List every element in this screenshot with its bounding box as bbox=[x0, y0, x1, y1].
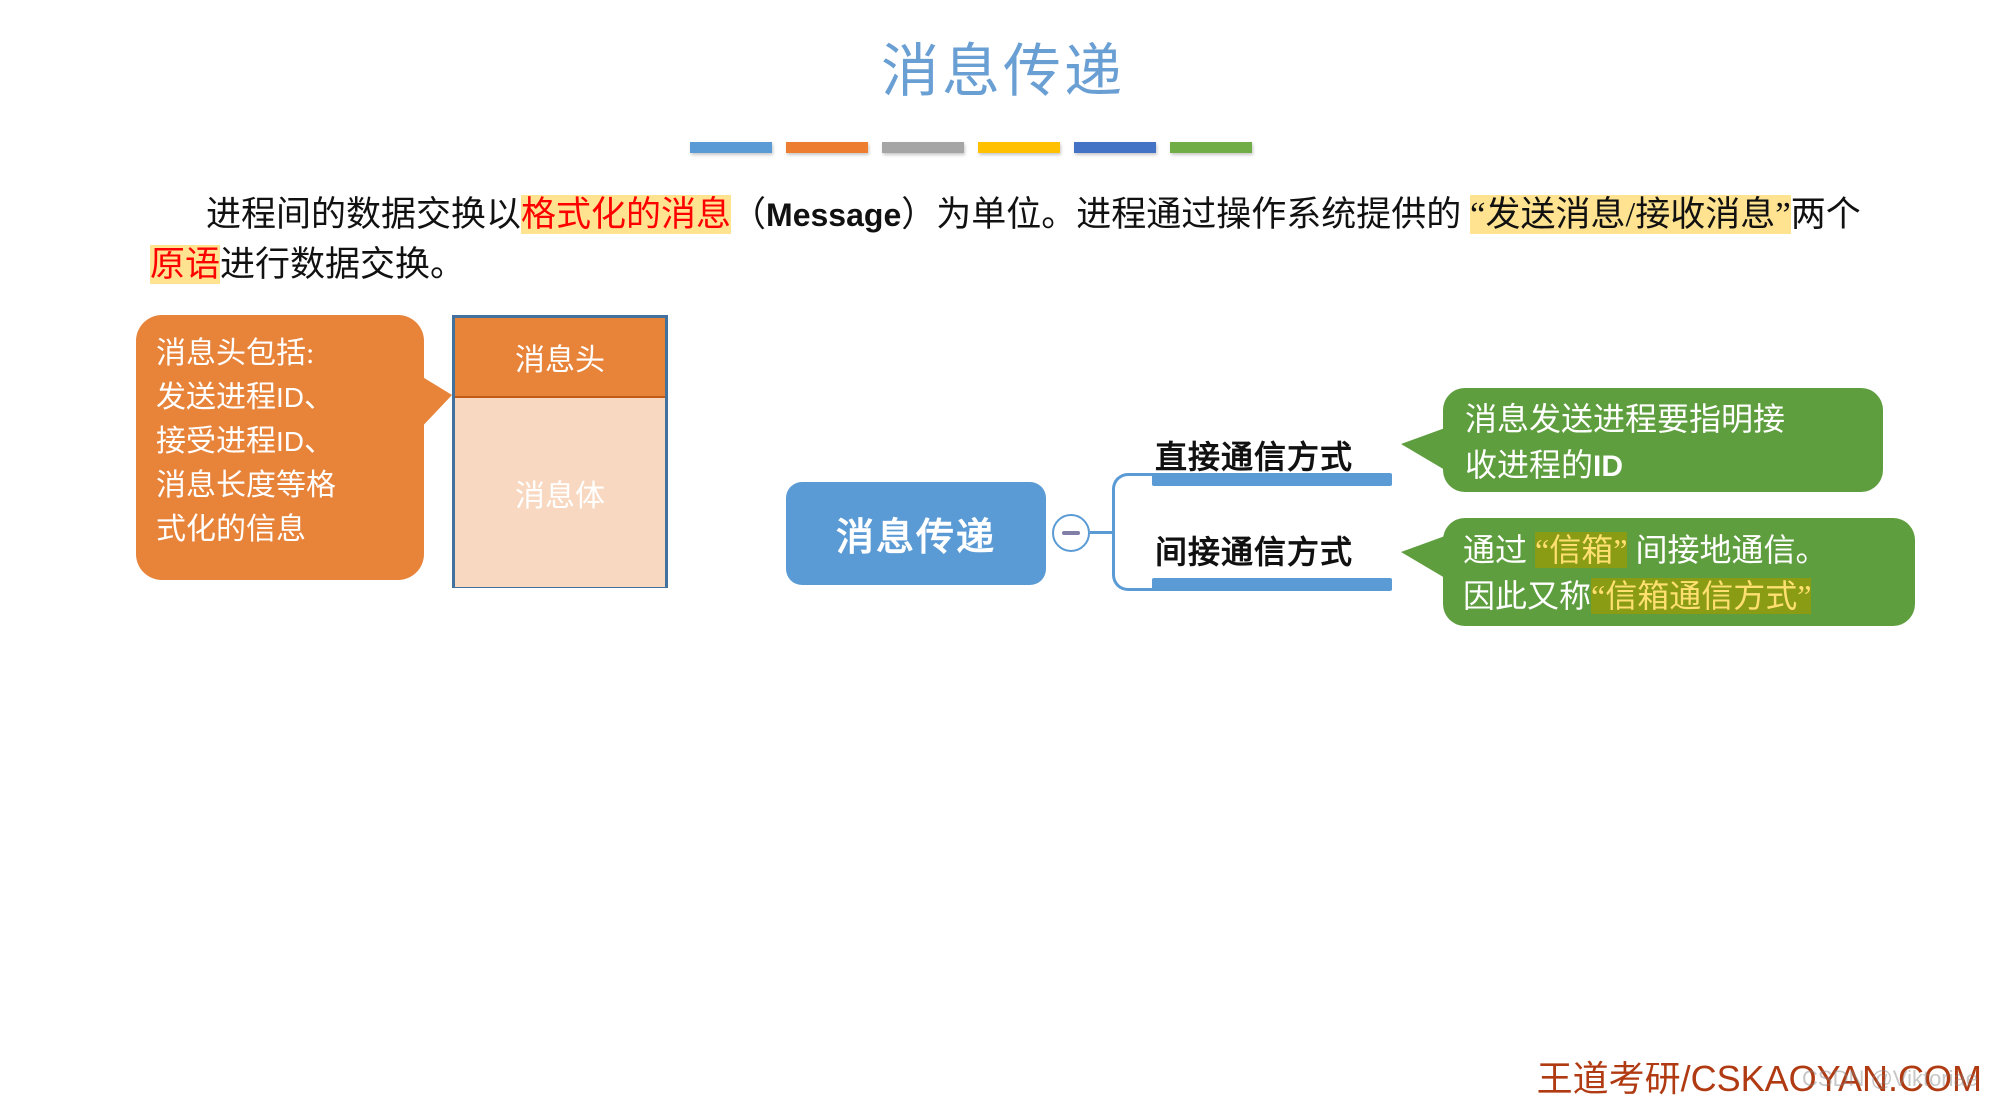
para-seg-7: 两个 bbox=[1791, 195, 1861, 234]
green1-line2-prefix: 收进程的 bbox=[1465, 447, 1593, 483]
line2-latin: ID bbox=[276, 382, 304, 413]
message-body-cell: 消息体 bbox=[455, 398, 665, 587]
green2-line1-highlight: “信箱” bbox=[1535, 532, 1627, 568]
accent-bar-strip bbox=[690, 142, 1252, 153]
accent-bar-dark-blue bbox=[1074, 142, 1156, 153]
line2-prefix: 发送进程 bbox=[156, 381, 276, 414]
green1-line-2: 收进程的ID bbox=[1465, 442, 1785, 490]
callout-orange-line-4: 消息长度等格 bbox=[156, 464, 406, 508]
green1-line-1: 消息发送进程要指明接 bbox=[1465, 396, 1785, 442]
minus-icon bbox=[1062, 531, 1080, 535]
mindmap-root-node[interactable]: 消息传递 bbox=[786, 482, 1046, 585]
green2-line2-highlight: “信箱通信方式” bbox=[1591, 578, 1811, 614]
para-seg-formatted-message: 格式化的消息 bbox=[521, 195, 731, 234]
callout-orange-text: 消息头包括: 发送进程ID、 接受进程ID、 消息长度等格 式化的信息 bbox=[156, 332, 406, 552]
green1-line2-latin: ID bbox=[1593, 450, 1623, 483]
mindmap-branch-label-indirect[interactable]: 间接通信方式 bbox=[1155, 527, 1353, 573]
page-title: 消息传递 bbox=[0, 40, 2006, 104]
callout-orange-line-2: 发送进程ID、 bbox=[156, 376, 406, 420]
callout-orange-tail-icon bbox=[416, 373, 452, 433]
csdn-watermark: CSDN @Viktoriae bbox=[1802, 1066, 1978, 1092]
para-seg-message-latin: Message bbox=[766, 197, 901, 233]
accent-bar-green bbox=[1170, 142, 1252, 153]
line3-latin: ID bbox=[276, 426, 304, 457]
green2-line-2: 因此又称“信箱通信方式” bbox=[1463, 573, 1827, 619]
mindmap-branch-bar-indirect bbox=[1152, 578, 1392, 591]
para-seg-send-receive: “发送消息/接收消息” bbox=[1470, 195, 1791, 234]
callout-green-1-text: 消息发送进程要指明接 收进程的ID bbox=[1465, 396, 1785, 490]
slide-canvas: 消息传递 进程间的数据交换以格式化的消息（Message）为单位。进程通过操作系… bbox=[0, 0, 2006, 1120]
mindmap-connector-bracket bbox=[1112, 473, 1154, 591]
message-header-cell: 消息头 bbox=[455, 318, 665, 398]
para-seg-1: 进程间的数据交换以 bbox=[206, 195, 521, 234]
accent-bar-yellow bbox=[978, 142, 1060, 153]
para-seg-primitive: 原语 bbox=[150, 245, 220, 284]
para-seg-3: （ bbox=[731, 195, 766, 234]
callout-green-1-tail-icon bbox=[1401, 428, 1445, 470]
callout-orange-line-3: 接受进程ID、 bbox=[156, 420, 406, 464]
green2-line1-b: 间接地通信。 bbox=[1627, 532, 1827, 568]
callout-green-2-text: 通过 “信箱” 间接地通信。 因此又称“信箱通信方式” bbox=[1463, 527, 1827, 619]
message-header-callout: 消息头包括: 发送进程ID、 接受进程ID、 消息长度等格 式化的信息 bbox=[136, 315, 424, 580]
mindmap-connector-stem bbox=[1090, 531, 1114, 534]
callout-green-2-tail-icon bbox=[1401, 536, 1445, 578]
para-seg-9: 进行数据交换。 bbox=[220, 245, 465, 284]
line2-suffix: 、 bbox=[304, 381, 334, 414]
callout-orange-line-1: 消息头包括: bbox=[156, 332, 406, 376]
green2-line2-a: 因此又称 bbox=[1463, 578, 1591, 614]
body-paragraph: 进程间的数据交换以格式化的消息（Message）为单位。进程通过操作系统提供的 … bbox=[150, 190, 1890, 290]
message-structure-box: 消息头 消息体 bbox=[452, 315, 668, 588]
line3-prefix: 接受进程 bbox=[156, 425, 276, 458]
indirect-communication-callout: 通过 “信箱” 间接地通信。 因此又称“信箱通信方式” bbox=[1443, 518, 1915, 626]
accent-bar-orange bbox=[786, 142, 868, 153]
para-seg-5: ）为单位。进程通过操作系统提供的 bbox=[901, 195, 1470, 234]
accent-bar-blue bbox=[690, 142, 772, 153]
line3-suffix: 、 bbox=[304, 425, 334, 458]
green2-line1-a: 通过 bbox=[1463, 532, 1535, 568]
mindmap-branch-label-direct[interactable]: 直接通信方式 bbox=[1155, 432, 1353, 478]
callout-orange-line-5: 式化的信息 bbox=[156, 508, 406, 552]
green2-line-1: 通过 “信箱” 间接地通信。 bbox=[1463, 527, 1827, 573]
mindmap-collapse-button[interactable] bbox=[1052, 514, 1090, 552]
direct-communication-callout: 消息发送进程要指明接 收进程的ID bbox=[1443, 388, 1883, 492]
accent-bar-gray bbox=[882, 142, 964, 153]
